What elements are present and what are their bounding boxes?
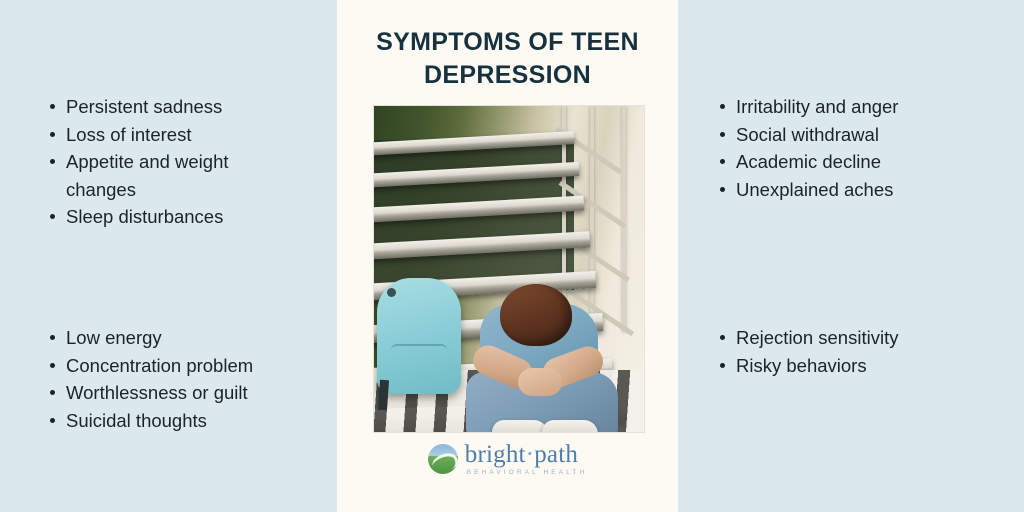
bright-path-circle-logo-icon <box>428 444 458 474</box>
backpack-icon <box>377 278 461 394</box>
list-item: Unexplained aches <box>718 176 978 204</box>
list-item: Worthlessness or guilt <box>48 379 318 407</box>
teen-head <box>500 284 572 346</box>
logo-word-bright: bright <box>465 441 526 468</box>
photo-content <box>374 106 644 432</box>
list-item: Social withdrawal <box>718 121 978 149</box>
brand-logo: bright·path BEHAVIORAL HEALTH <box>337 442 678 477</box>
logo-wordmark: bright·path <box>465 442 588 467</box>
list-item: Appetite and weight changes <box>48 148 298 203</box>
list-item: Academic decline <box>718 148 978 176</box>
backpack-clip-icon <box>387 288 396 297</box>
infographic-root: Persistent sadness Loss of interest Appe… <box>0 0 1024 512</box>
logo-tagline: BEHAVIORAL HEALTH <box>465 470 588 477</box>
list-item: Concentration problem <box>48 352 318 380</box>
list-item: Sleep disturbances <box>48 203 298 231</box>
symptom-list-left-bottom: Low energy Concentration problem Worthle… <box>48 324 318 434</box>
list-item: Risky behaviors <box>718 352 978 380</box>
teen-shoe <box>542 420 598 432</box>
logo-separator-dot: · <box>526 441 535 468</box>
teen-clasped-hands <box>518 368 562 396</box>
symptom-list-left-top: Persistent sadness Loss of interest Appe… <box>48 93 298 231</box>
list-item: Persistent sadness <box>48 93 298 121</box>
list-item: Suicidal thoughts <box>48 407 318 435</box>
logo-word-path: path <box>534 441 578 468</box>
path-swoosh-icon <box>430 451 458 475</box>
center-panel: SYMPTOMS OF TEEN DEPRESSION <box>337 0 678 512</box>
teen-sitting-on-stairs-photo <box>373 105 645 433</box>
symptom-list-right-top: Irritability and anger Social withdrawal… <box>718 93 978 203</box>
logo-text-block: bright·path BEHAVIORAL HEALTH <box>465 442 588 477</box>
page-title: SYMPTOMS OF TEEN DEPRESSION <box>337 26 678 92</box>
railing-post-icon <box>622 106 626 332</box>
list-item: Irritability and anger <box>718 93 978 121</box>
symptom-list-right-bottom: Rejection sensitivity Risky behaviors <box>718 324 978 379</box>
teen-shoe <box>492 420 548 432</box>
list-item: Rejection sensitivity <box>718 324 978 352</box>
list-item: Low energy <box>48 324 318 352</box>
list-item: Loss of interest <box>48 121 298 149</box>
